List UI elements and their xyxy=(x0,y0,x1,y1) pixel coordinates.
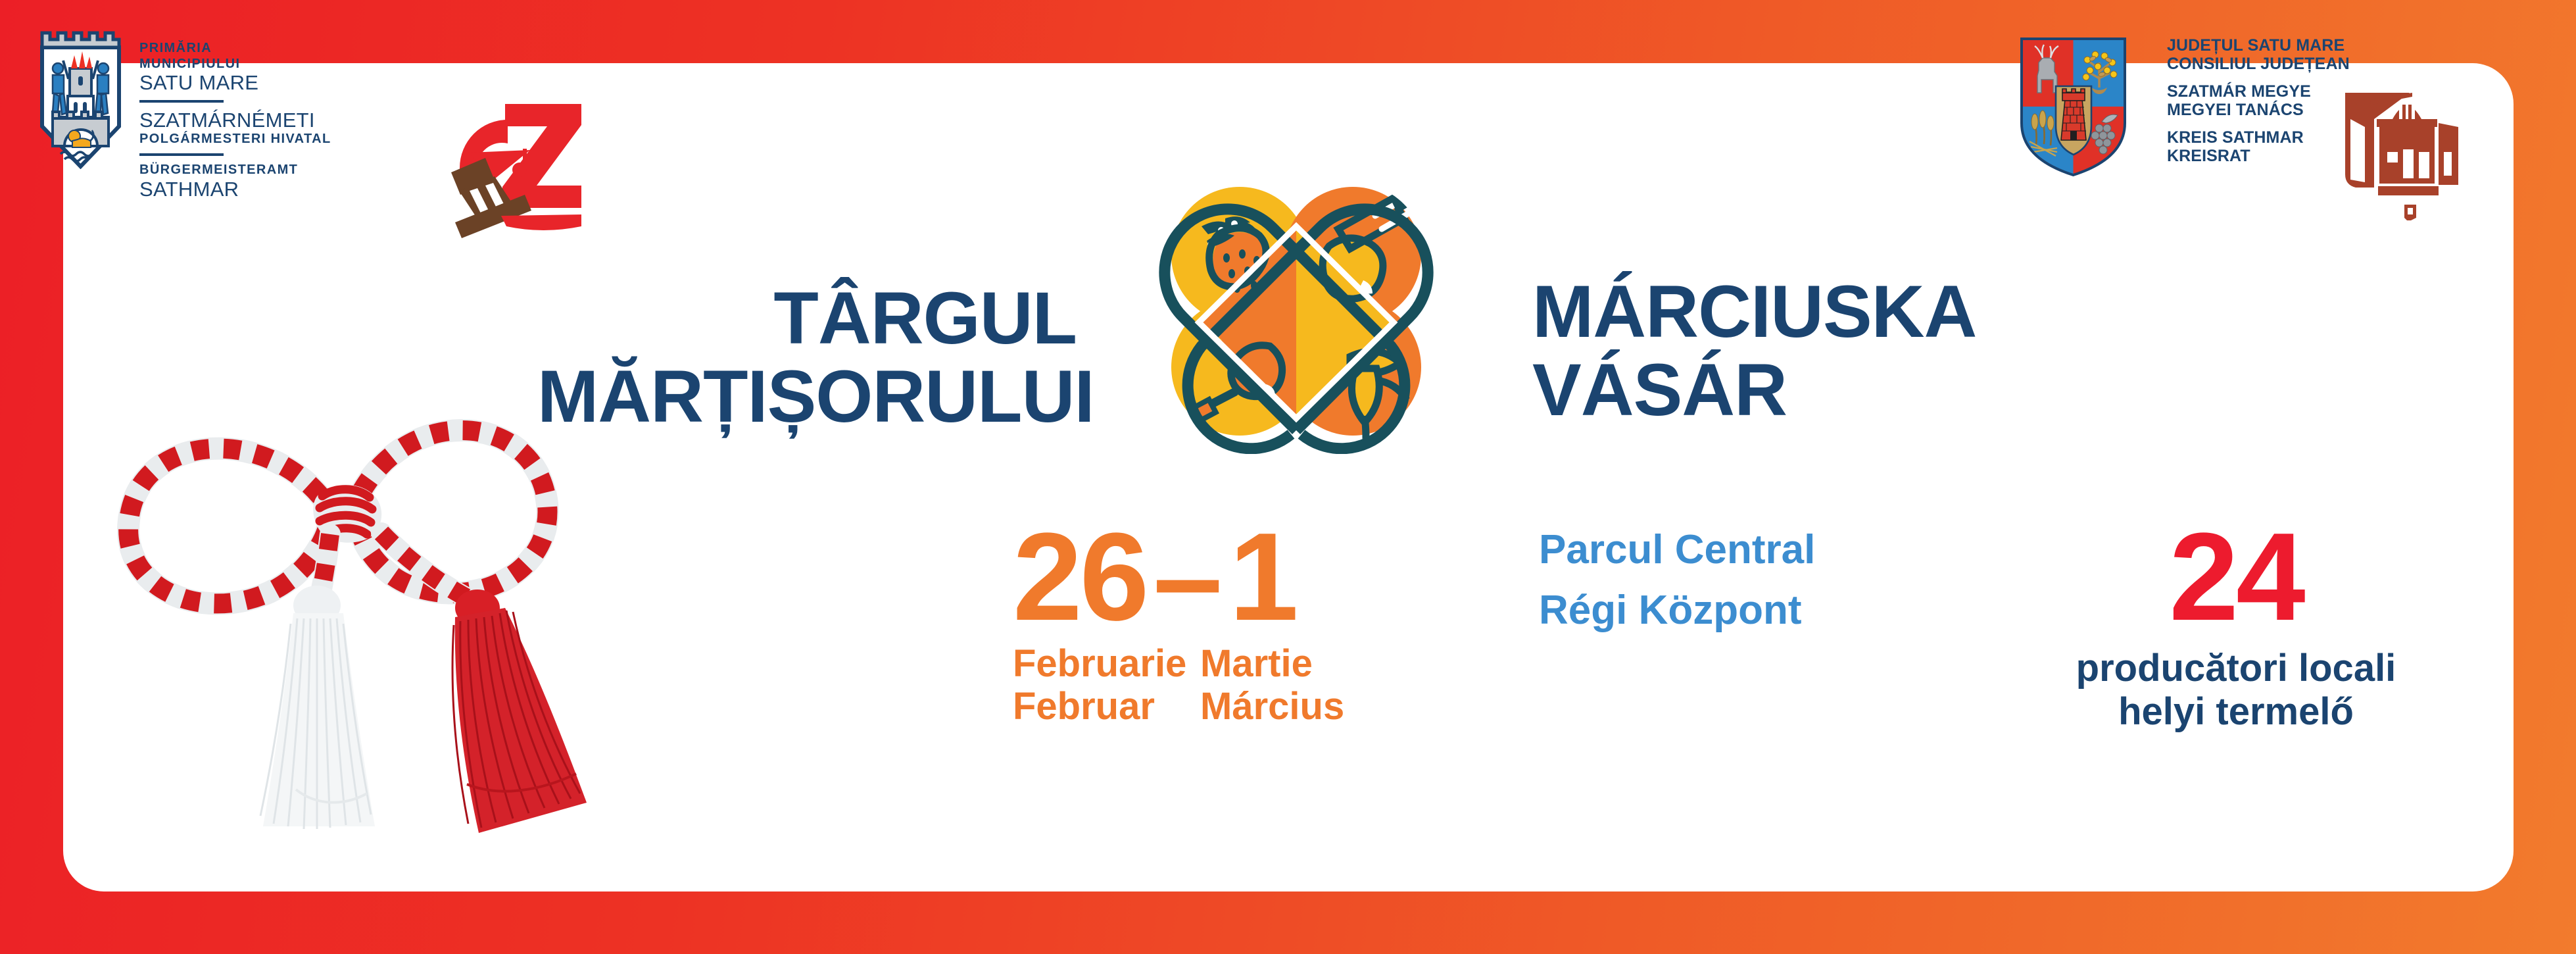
divider xyxy=(139,100,224,103)
producers-labels: producători locali helyi termelő xyxy=(1973,647,2499,734)
producers-count: 24 xyxy=(1973,520,2499,635)
start-month-hu: Februar xyxy=(1013,686,1186,728)
heritage-building-icon xyxy=(2336,89,2467,220)
city-hall-hu-small: POLGÁRMESTERI HIVATAL xyxy=(139,132,356,147)
event-title-hungarian: MÁRCIUSKA VÁSÁR xyxy=(1532,273,2124,429)
city-hall-logo-text: PRIMĂRIA MUNICIPIULUI SATU MARE SZATMÁRN… xyxy=(139,41,356,201)
city-hall-ro-big: SATU MARE xyxy=(139,72,356,94)
county-ro-2: CONSILIUL JUDEȚEAN xyxy=(2167,55,2423,73)
city-hall-de-big: SATHMAR xyxy=(139,178,356,201)
producers-label-hu: helyi termelő xyxy=(1973,690,2499,734)
producers-count-block: 24 producători locali helyi termelő xyxy=(1973,520,2499,734)
title-hu-line2: VÁSÁR xyxy=(1532,351,2124,430)
event-location: Parcul Central Régi Központ xyxy=(1539,530,1999,631)
start-month-ro: Februarie xyxy=(1013,643,1186,686)
end-month-hu: Március xyxy=(1200,686,1344,728)
city-hall-hu-big: SZATMÁRNÉMETI xyxy=(139,109,356,132)
city-hall-de-small: BÜRGERMEISTERAMT xyxy=(139,163,356,178)
location-hu: Régi Központ xyxy=(1539,590,1999,631)
date-month-labels: Februarie Februar Martie Március xyxy=(1013,643,1539,741)
event-dates: 26–1 Februarie Februar Martie Március xyxy=(1013,520,1539,741)
location-ro: Parcul Central xyxy=(1539,530,1999,570)
satu-mare-city-crest-icon xyxy=(39,28,122,169)
producers-label-ro: producători locali xyxy=(1973,647,2499,690)
date-dash: – xyxy=(1146,507,1229,647)
title-ro-line1: TÂRGUL xyxy=(537,280,1077,358)
date-start-day: 26 xyxy=(1013,507,1146,647)
spacer xyxy=(2167,73,2423,82)
city-hall-logo: PRIMĂRIA MUNICIPIULUI SATU MARE SZATMÁRN… xyxy=(39,28,434,199)
county-ro-1: JUDEȚUL SATU MARE xyxy=(2167,36,2423,55)
city-hall-ro-small-1: PRIMĂRIA xyxy=(139,41,356,57)
end-month-ro: Martie xyxy=(1200,643,1344,686)
city-hall-ro-small-2: MUNICIPIULUI xyxy=(139,57,356,72)
cz-cultural-center-logo-icon xyxy=(421,92,598,243)
local-produce-heart-logo-icon xyxy=(1141,158,1450,454)
end-month-block: Martie Március xyxy=(1200,643,1344,728)
title-hu-line1: MÁRCIUSKA xyxy=(1532,273,2124,351)
title-ro-line2: MĂRȚIȘORULUI xyxy=(537,358,1077,436)
divider xyxy=(139,153,224,156)
start-month-block: Februarie Februar xyxy=(1013,643,1186,728)
satu-mare-county-coat-of-arms-icon xyxy=(2019,36,2127,178)
date-end-day: 1 xyxy=(1229,507,1296,647)
date-range: 26–1 xyxy=(1013,520,1539,635)
event-title-romanian: TÂRGUL MĂRȚIȘORULUI xyxy=(537,280,1077,436)
